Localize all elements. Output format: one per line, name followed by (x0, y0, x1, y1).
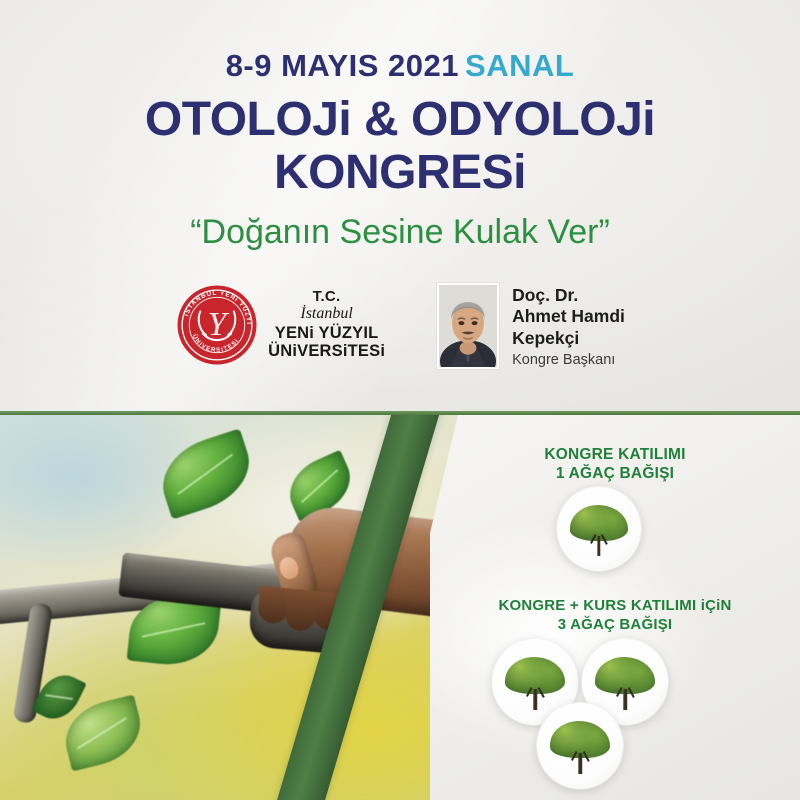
tree-icon (569, 505, 629, 557)
congress-poster: 8-9 MAYIS 2021SANAL OTOLOJi & ODYOLOJi K… (0, 0, 800, 800)
donation-tier2-line2: 3 AĞAÇ BAĞIŞI (558, 616, 673, 633)
congress-title-line2: KONGRESi (0, 145, 800, 200)
speaker-text-block: Doç. Dr. Ahmet Hamdi Kepekçi Kongre Başk… (512, 283, 625, 368)
leaf-icon (152, 428, 260, 519)
speaker-block: Doç. Dr. Ahmet Hamdi Kepekçi Kongre Başk… (437, 283, 625, 369)
donation-tier2-heading: KONGRE + KURS KATILIMI iÇiN 3 AĞAÇ BAĞIŞ… (430, 597, 800, 634)
header-section: 8-9 MAYIS 2021SANAL OTOLOJi & ODYOLOJi K… (0, 0, 800, 415)
credit-row: ISTANBUL YENi YÜZYIL ÜNiVERSiTESi Y (0, 283, 800, 391)
tree-badge (557, 487, 641, 571)
university-city: İstanbul (300, 305, 352, 323)
speaker-name-line1: Ahmet Hamdi (512, 306, 625, 327)
event-date: 8-9 MAYIS 2021 (226, 48, 459, 83)
donation-tier2-line1: KONGRE + KURS KATILIMI iÇiN (498, 597, 731, 614)
tree-icon (594, 657, 656, 711)
donation-tier1-line2: 1 AĞAÇ BAĞIŞI (556, 465, 674, 482)
bottom-section: KONGRE KATILIMI 1 AĞAÇ BAĞIŞI KONGRE + K… (0, 415, 800, 800)
section-divider-line (0, 411, 800, 415)
donation-tier1-line1: KONGRE KATILIMI (544, 446, 685, 463)
university-lockup: ISTANBUL YENi YÜZYIL ÜNiVERSiTESi Y (175, 283, 385, 367)
university-name-block: T.C. İstanbul YENi YÜZYIL ÜNiVERSiTESi (268, 289, 385, 361)
university-name-line2: ÜNiVERSiTESi (268, 342, 385, 360)
donation-panel: KONGRE KATILIMI 1 AĞAÇ BAĞIŞI KONGRE + K… (430, 415, 800, 800)
speaker-photo-frame (437, 283, 499, 369)
event-mode-badge: SANAL (465, 48, 574, 83)
speaker-title: Doç. Dr. (512, 285, 625, 306)
event-date-line: 8-9 MAYIS 2021SANAL (0, 48, 800, 84)
university-seal-icon: ISTANBUL YENi YÜZYIL ÜNiVERSiTESi Y (175, 283, 259, 367)
congress-slogan: “Doğanın Sesine Kulak Ver” (0, 213, 800, 252)
congress-title-line1: OTOLOJi & ODYOLOJi (0, 92, 800, 147)
tree-badge (537, 703, 623, 789)
speaker-role: Kongre Başkanı (512, 352, 625, 368)
avatar (439, 285, 497, 367)
university-name-line1: YENi YÜZYIL (275, 324, 379, 342)
university-tc: T.C. (313, 289, 341, 306)
donation-tier1-heading: KONGRE KATILIMI 1 AĞAÇ BAĞIŞI (430, 445, 800, 483)
tree-icon (504, 657, 566, 711)
tree-icon (549, 721, 611, 775)
speaker-name-line2: Kepekçi (512, 328, 625, 349)
